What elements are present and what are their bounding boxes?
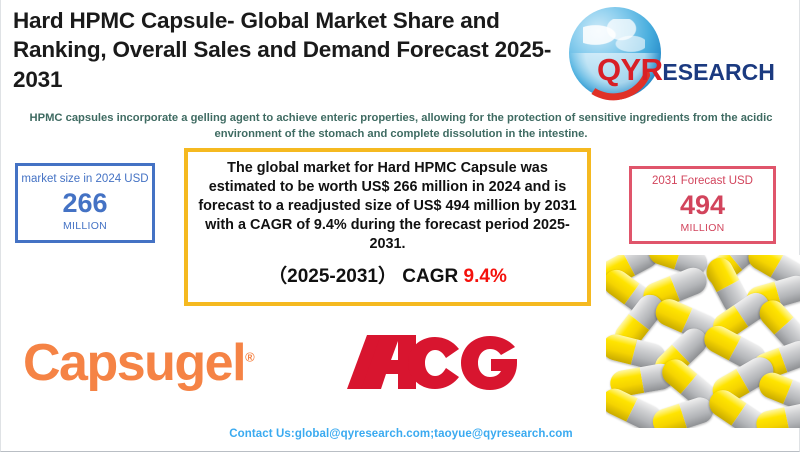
capsugel-wordmark: Capsugel xyxy=(23,334,245,392)
stat-box-market-size-2024: market size in 2024 USD 266 MILLION xyxy=(15,163,155,243)
logo-text-esearch: ESEARCH xyxy=(662,59,774,85)
logo-text-qy: QY xyxy=(597,52,641,87)
infographic-page: Hard HPMC Capsule- Global Market Share a… xyxy=(0,0,800,452)
acg-logo xyxy=(341,333,551,391)
cagr-label: CAGR xyxy=(402,266,458,287)
stat-unit: MILLION xyxy=(680,222,724,235)
cagr-period: （2025-2031） xyxy=(268,266,397,287)
stat-caption: market size in 2024 USD xyxy=(21,173,148,187)
stat-value: 266 xyxy=(62,187,107,221)
page-title: Hard HPMC Capsule- Global Market Share a… xyxy=(13,6,573,94)
cagr-value: 9.4% xyxy=(464,266,507,287)
contact-info: Contact Us:global@qyresearch.com;taoyue@… xyxy=(1,428,800,440)
capsugel-logo: Capsugel® xyxy=(23,337,255,389)
qyresearch-logo: QYRESEARCH xyxy=(561,4,799,104)
stat-value: 494 xyxy=(680,189,725,223)
stat-caption: 2031 Forecast USD xyxy=(652,175,753,189)
market-summary-box: The global market for Hard HPMC Capsule … xyxy=(184,148,591,306)
qyresearch-wordmark: QYRESEARCH xyxy=(597,54,775,85)
stat-unit: MILLION xyxy=(63,220,107,233)
logo-text-r: R xyxy=(641,52,663,87)
capsule-photo xyxy=(606,255,800,428)
cagr-line: （2025-2031） CAGR 9.4% xyxy=(198,261,577,288)
market-summary-text: The global market for Hard HPMC Capsule … xyxy=(198,159,577,254)
registered-trademark-icon: ® xyxy=(245,350,255,365)
stat-box-forecast-2031: 2031 Forecast USD 494 MILLION xyxy=(629,166,776,244)
page-subtitle: HPMC capsules incorporate a gelling agen… xyxy=(11,110,791,142)
